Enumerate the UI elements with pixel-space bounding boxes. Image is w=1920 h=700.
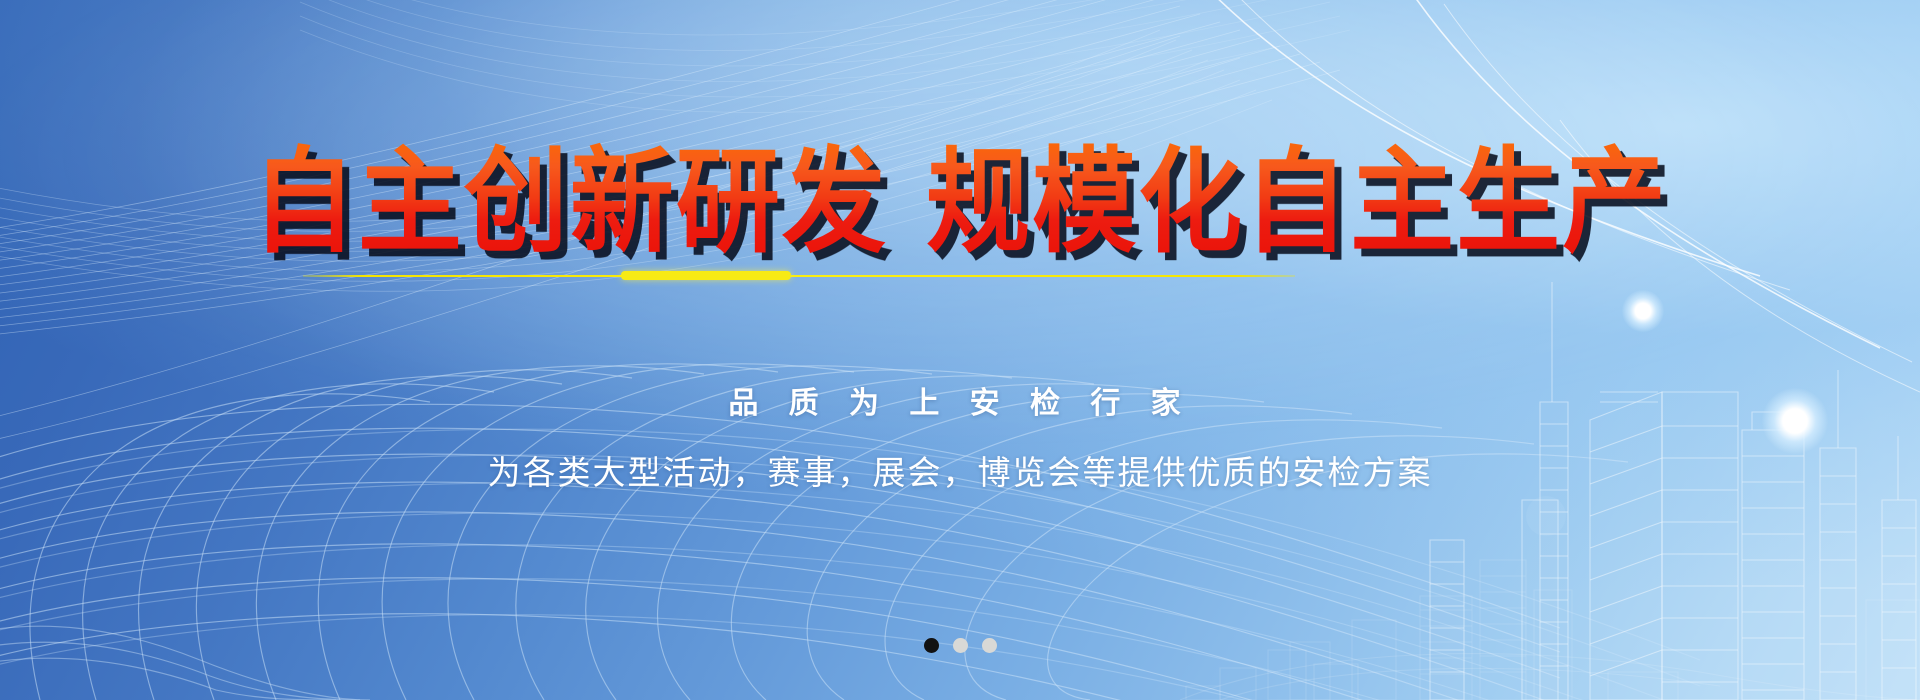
title-divider xyxy=(303,274,1295,277)
hero-banner: 自主创新研发 规模化自主生产 品 质 为 上 安 检 行 家 为各类大型活动，赛… xyxy=(0,0,1920,700)
divider-accent-bar xyxy=(621,271,791,280)
carousel-dot-1[interactable] xyxy=(924,638,939,653)
carousel-dot-3[interactable] xyxy=(982,638,997,653)
divider-thin-line xyxy=(303,275,1295,277)
carousel-dot-2[interactable] xyxy=(953,638,968,653)
banner-subtitle-secondary: 为各类大型活动，赛事，展会，博览会等提供优质的安检方案 xyxy=(0,446,1920,494)
banner-headline: 自主创新研发 规模化自主生产 xyxy=(0,138,1920,266)
banner-content: 自主创新研发 规模化自主生产 品 质 为 上 安 检 行 家 为各类大型活动，赛… xyxy=(0,0,1920,700)
banner-subtitle-primary: 品 质 为 上 安 检 行 家 xyxy=(0,378,1920,422)
carousel-indicators[interactable] xyxy=(0,638,1920,653)
